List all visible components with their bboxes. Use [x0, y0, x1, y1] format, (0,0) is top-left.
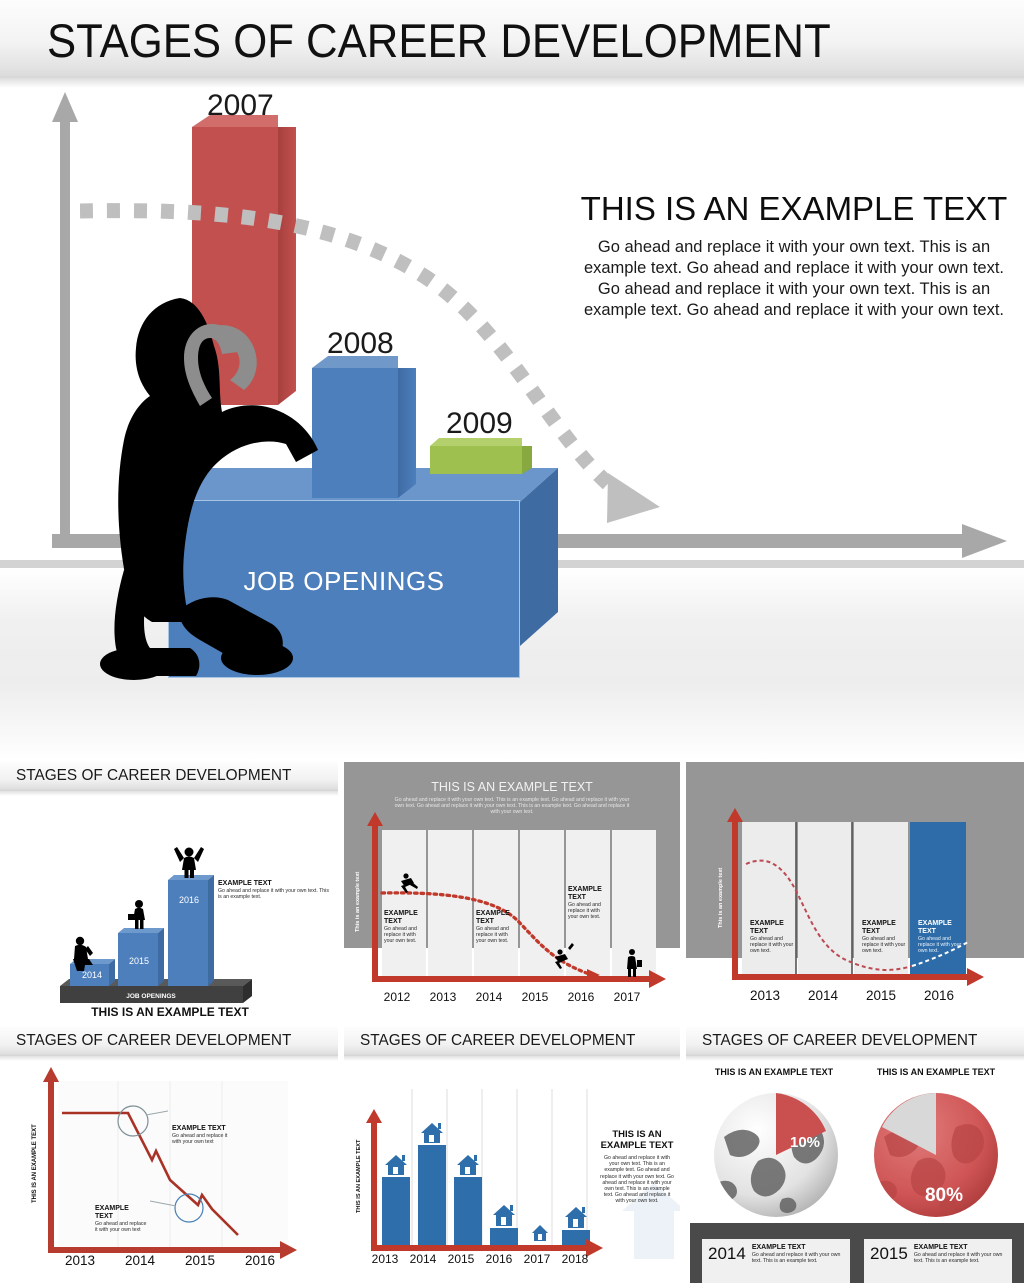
thumb2-year-2012: 2012 [374, 990, 420, 1004]
thumb4-callout-2-title: EXAMPLE TEXT [95, 1205, 147, 1221]
thumbnail-2[interactable]: THIS IS AN EXAMPLE TEXT Go ahead and rep… [344, 762, 680, 1020]
thumb4-header-shadow [0, 1056, 338, 1061]
thumb5-year-axis: 2013 2014 2015 2016 2017 2018 [366, 1252, 594, 1266]
page-title: STAGES OF CAREER DEVELOPMENT [47, 13, 831, 68]
decline-curve [80, 185, 780, 555]
slide-page: STAGES OF CAREER DEVELOPMENT 2007 [0, 0, 1024, 1283]
thumb3-panel-2: EXAMPLE TEXT Go ahead and replace it wit… [862, 920, 906, 955]
thumb6-left-title: THIS IS AN EXAMPLE TEXT [714, 1067, 834, 1078]
svg-text:This is an example text: This is an example text [355, 872, 361, 932]
bar-2009-face [430, 446, 522, 474]
bar-label-2007: 2007 [207, 89, 274, 123]
thumb3-year-2014: 2014 [794, 988, 852, 1003]
thumb2-panel-3: EXAMPLE TEXT Go ahead and replace it wit… [568, 886, 610, 921]
hero-slide: STAGES OF CAREER DEVELOPMENT 2007 [0, 0, 1024, 760]
thumb3-year-2016: 2016 [910, 988, 968, 1003]
thumb1-callout-body: Go ahead and replace it with your own te… [218, 888, 330, 900]
thumb5-text-block: THIS IS AN EXAMPLE TEXT Go ahead and rep… [599, 1129, 675, 1205]
thumb6-right-value-text: 80% [925, 1185, 963, 1206]
svg-text:THIS IS AN EXAMPLE TEXT: THIS IS AN EXAMPLE TEXT [356, 1139, 362, 1213]
hero-header-shadow [0, 78, 1024, 88]
thumb3-panel-1-body: Go ahead and replace it with your own te… [750, 936, 794, 955]
thumb6-left-value-text: 10% [790, 1134, 820, 1151]
thumb2-heading: THIS IS AN EXAMPLE TEXT Go ahead and rep… [364, 780, 660, 816]
thumb6-card-2014[interactable]: 2014 EXAMPLE TEXT Go ahead and replace i… [702, 1239, 850, 1283]
thumb5-year-2016: 2016 [480, 1252, 518, 1266]
svg-text:JOB OPENINGS: JOB OPENINGS [126, 993, 176, 1000]
thumb6-title: STAGES OF CAREER DEVELOPMENT [702, 1032, 977, 1050]
thumb1-caption: THIS IS AN EXAMPLE TEXT Go ahead and rep… [40, 1005, 300, 1020]
bar-label-2008: 2008 [327, 327, 394, 361]
svg-text:This is an example text: This is an example text [718, 868, 724, 928]
thumbnail-1[interactable]: STAGES OF CAREER DEVELOPMENT JOB OPENING… [0, 762, 338, 1020]
thumb6-card-2014-title: EXAMPLE TEXT [752, 1244, 844, 1252]
thumb3-panel-1-title: EXAMPLE TEXT [750, 920, 794, 936]
thumb3-panel-1: EXAMPLE TEXT Go ahead and replace it wit… [750, 920, 794, 955]
thumb4-year-2016: 2016 [230, 1253, 290, 1268]
thumbnail-grid: STAGES OF CAREER DEVELOPMENT JOB OPENING… [0, 762, 1024, 1283]
thumb6-card-2015[interactable]: 2015 EXAMPLE TEXT Go ahead and replace i… [864, 1239, 1012, 1283]
thumb4-year-axis: 2013 2014 2015 2016 [50, 1253, 290, 1268]
thumb4-callout-2: EXAMPLE TEXT Go ahead and replace it wit… [95, 1205, 147, 1233]
thumb5-year-2017: 2017 [518, 1252, 556, 1266]
thumb5-year-2018: 2018 [556, 1252, 594, 1266]
thumb4-year-2013: 2013 [50, 1253, 110, 1268]
thumb5-text-title: THIS IS AN EXAMPLE TEXT [599, 1129, 675, 1151]
thumb2-panel-2-body: Go ahead and replace it with your own te… [476, 926, 518, 945]
thumb3-figure: This is an example text [686, 800, 1024, 1010]
thumb1-title: STAGES OF CAREER DEVELOPMENT [16, 767, 291, 785]
thumb2-panel-1-title: EXAMPLE TEXT [384, 910, 426, 926]
thumb6-right-title: THIS IS AN EXAMPLE TEXT [876, 1067, 996, 1078]
thumb2-year-2016: 2016 [558, 990, 604, 1004]
thumb2-panel-1: EXAMPLE TEXT Go ahead and replace it wit… [384, 910, 426, 945]
thumb3-year-axis: 2013 2014 2015 2016 [736, 988, 968, 1003]
thumb4-callout-1: EXAMPLE TEXT Go ahead and replace it wit… [172, 1125, 228, 1145]
thumb3-panel-3: EXAMPLE TEXT Go ahead and replace it wit… [918, 920, 962, 955]
thumb2-year-2017: 2017 [604, 990, 650, 1004]
thumb6-card-2014-body: Go ahead and replace it with your own te… [752, 1252, 844, 1264]
thumb2-year-2013: 2013 [420, 990, 466, 1004]
thumb5-title: STAGES OF CAREER DEVELOPMENT [360, 1032, 635, 1050]
thumb3-year-2013: 2013 [736, 988, 794, 1003]
thumb5-text-body: Go ahead and replace it with your own te… [599, 1155, 675, 1205]
thumb2-year-2015: 2015 [512, 990, 558, 1004]
thumb2-panel-3-body: Go ahead and replace it with your own te… [568, 902, 610, 921]
thumb2-panel-3-title: EXAMPLE TEXT [568, 886, 610, 902]
thumb3-panel-3-title: EXAMPLE TEXT [918, 920, 962, 936]
thumb5-header-shadow [344, 1056, 680, 1061]
thumb2-year-axis: 2012 2013 2014 2015 2016 2017 [374, 990, 664, 1004]
thumb6-card-2015-year: 2015 [870, 1244, 908, 1264]
thumb3-year-2015: 2015 [852, 988, 910, 1003]
thumb6-header-shadow [686, 1056, 1024, 1061]
thumb4-figure: THIS IS AN EXAMPLE TEXT [0, 1063, 338, 1281]
thumb2-title: THIS IS AN EXAMPLE TEXT [364, 780, 660, 794]
thumb4-callout-2-body: Go ahead and replace it with your own te… [95, 1221, 147, 1233]
thumbnail-4[interactable]: STAGES OF CAREER DEVELOPMENT THIS IS AN … [0, 1027, 338, 1283]
thumb4-callout-1-title: EXAMPLE TEXT [172, 1125, 228, 1133]
thumb3-panel-3-body: Go ahead and replace it with your own te… [918, 936, 962, 955]
thumb5-year-2014: 2014 [404, 1252, 442, 1266]
thumb1-caption-title: THIS IS AN EXAMPLE TEXT [40, 1005, 300, 1019]
thumb4-callout-1-body: Go ahead and replace it with your own te… [172, 1133, 228, 1145]
bar-label-2009: 2009 [446, 407, 513, 441]
thumb1-callout-title: EXAMPLE TEXT [218, 880, 330, 888]
thumb6-card-2014-year: 2014 [708, 1244, 746, 1264]
thumb4-title: STAGES OF CAREER DEVELOPMENT [16, 1032, 291, 1050]
thumbnail-5[interactable]: STAGES OF CAREER DEVELOPMENT [344, 1027, 680, 1283]
thumb6-globes: 10% 80% [686, 1091, 1024, 1221]
thumb2-year-2014: 2014 [466, 990, 512, 1004]
thumb2-figure: This is an example text [344, 812, 680, 1002]
svg-text:2014: 2014 [82, 970, 102, 980]
bar-2009 [430, 446, 522, 474]
thumb5-year-2015: 2015 [442, 1252, 480, 1266]
thumb1-callout: EXAMPLE TEXT Go ahead and replace it wit… [218, 880, 330, 900]
thumb4-year-2015: 2015 [170, 1253, 230, 1268]
thumb5-year-2013: 2013 [366, 1252, 404, 1266]
thumb6-card-2015-title: EXAMPLE TEXT [914, 1244, 1006, 1252]
thumbnail-6[interactable]: STAGES OF CAREER DEVELOPMENT THIS IS AN … [686, 1027, 1024, 1283]
svg-text:2016: 2016 [179, 895, 199, 905]
svg-text:THIS IS AN EXAMPLE TEXT: THIS IS AN EXAMPLE TEXT [32, 1124, 38, 1203]
thumb1-figure: JOB OPENINGS 2014 2015 2016 [0, 796, 338, 1020]
thumbnail-3[interactable]: This is an example text EXAMPLE TEXT Go … [686, 762, 1024, 1020]
svg-text:2015: 2015 [129, 956, 149, 966]
thumb2-panel-2-title: EXAMPLE TEXT [476, 910, 518, 926]
thumb4-year-2014: 2014 [110, 1253, 170, 1268]
thumb2-panel-2: EXAMPLE TEXT Go ahead and replace it wit… [476, 910, 518, 945]
thumb3-panel-2-body: Go ahead and replace it with your own te… [862, 936, 906, 955]
thumb2-panel-1-body: Go ahead and replace it with your own te… [384, 926, 426, 945]
thumb6-card-2015-body: Go ahead and replace it with your own te… [914, 1252, 1006, 1264]
thumb3-panel-2-title: EXAMPLE TEXT [862, 920, 906, 936]
